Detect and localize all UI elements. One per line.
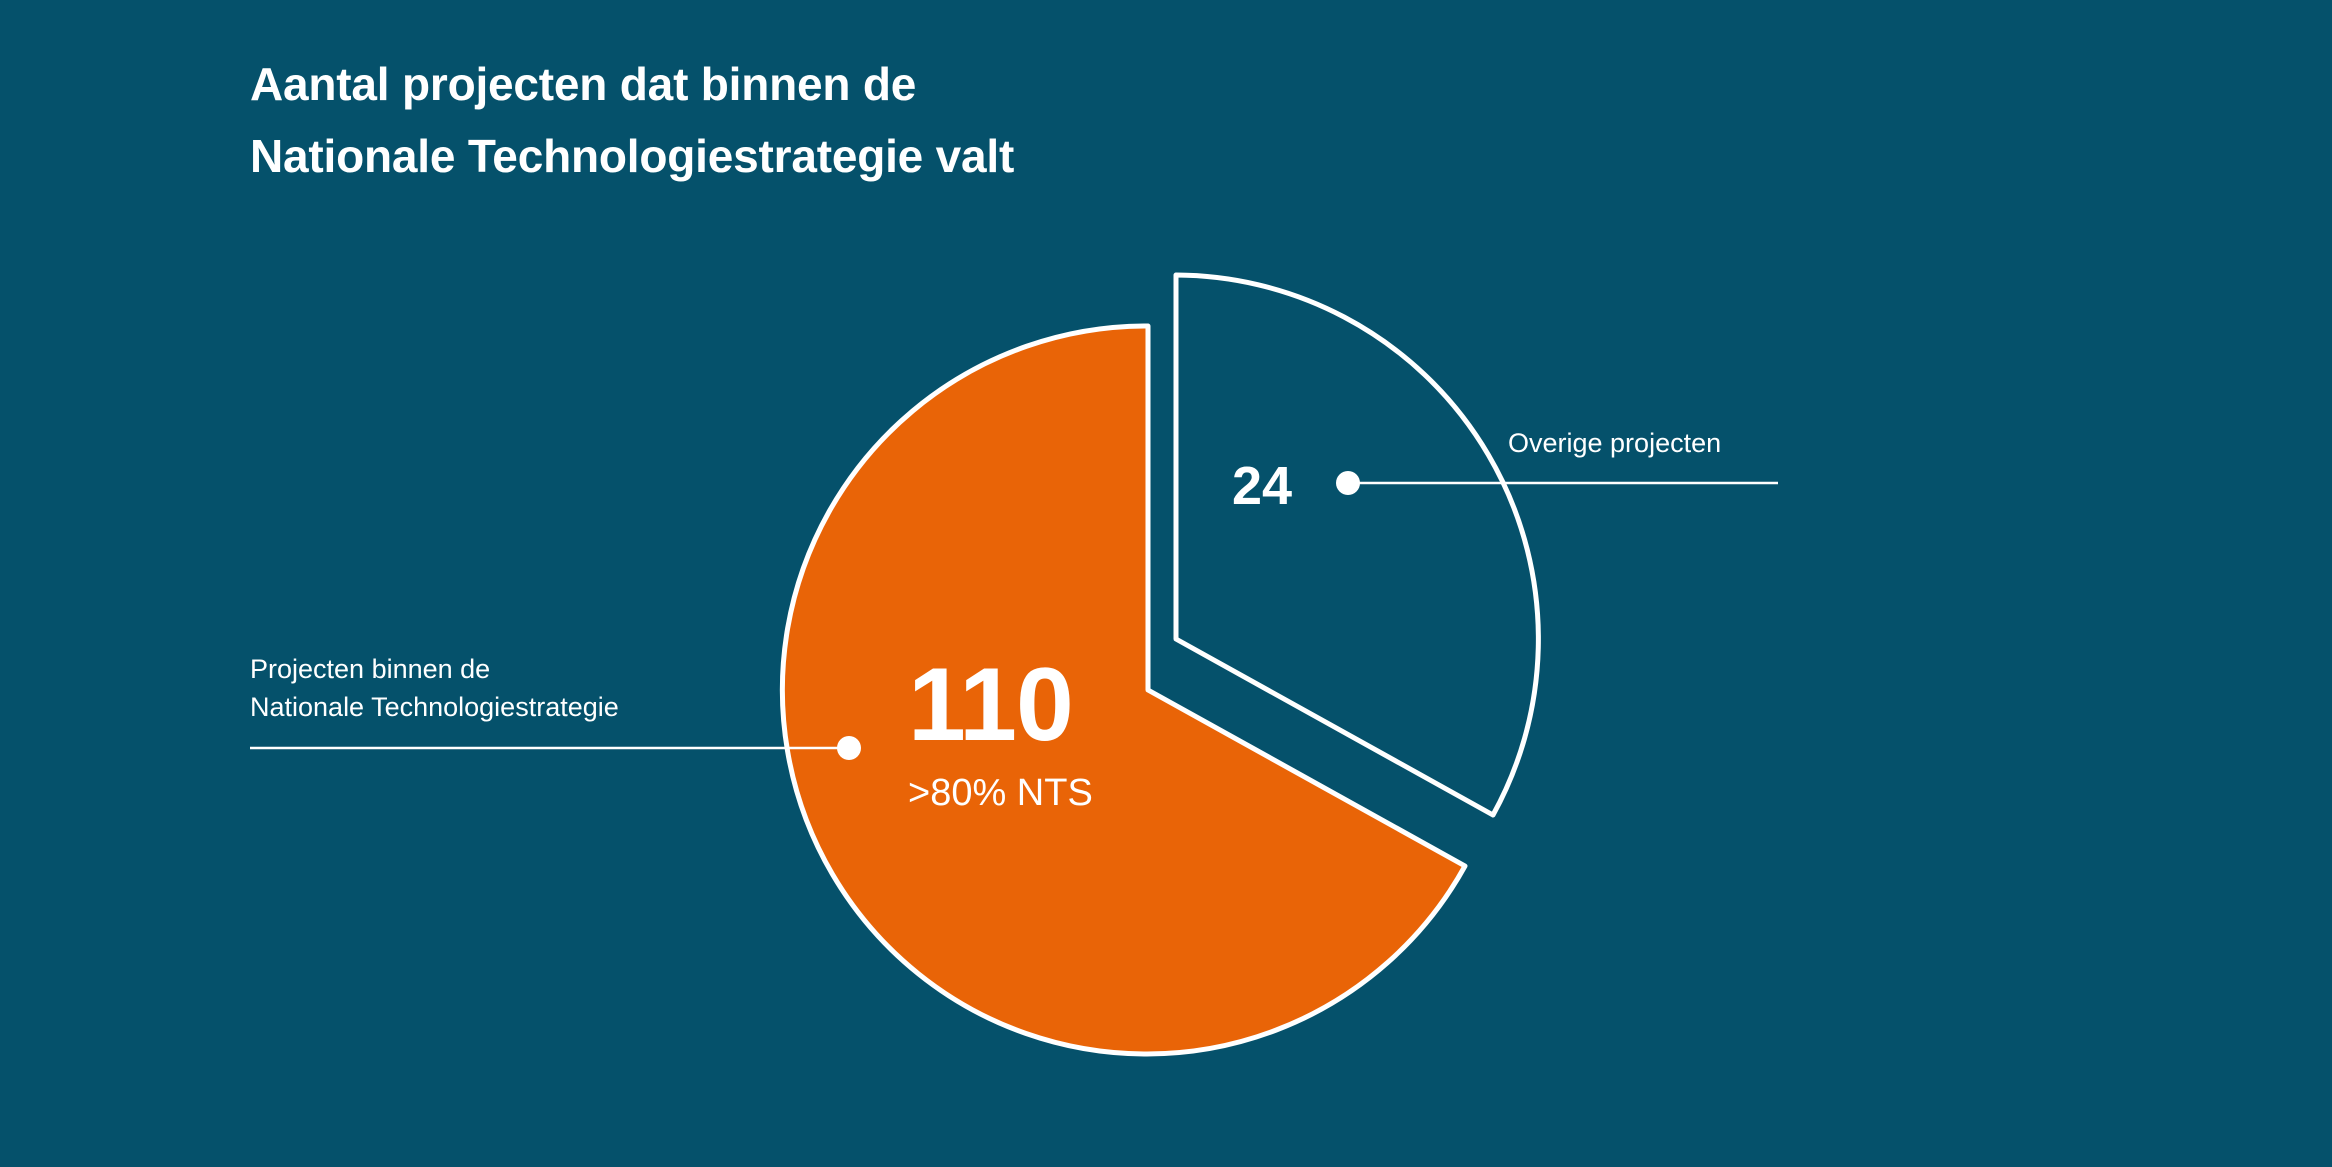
callout-right-leader-dot	[1336, 471, 1360, 495]
infographic-root: Aantal projecten dat binnen de Nationale…	[0, 0, 2332, 1167]
slice-value-secondary: 24	[1232, 456, 1292, 516]
chart-title-line-1: Aantal projecten dat binnen de	[250, 58, 916, 110]
slice-value-primary: 110	[908, 647, 1073, 763]
pie-chart-figure: Aantal projecten dat binnen de Nationale…	[0, 0, 2332, 1167]
callout-left-line-1: Projecten binnen de	[250, 654, 490, 684]
slice-sublabel-primary: >80% NTS	[908, 772, 1093, 814]
callout-left-line-2: Nationale Technologiestrategie	[250, 692, 619, 722]
chart-title-line-2: Nationale Technologiestrategie valt	[250, 130, 1014, 182]
callout-right-line-1: Overige projecten	[1508, 428, 1721, 458]
callout-left-leader-dot	[837, 736, 861, 760]
